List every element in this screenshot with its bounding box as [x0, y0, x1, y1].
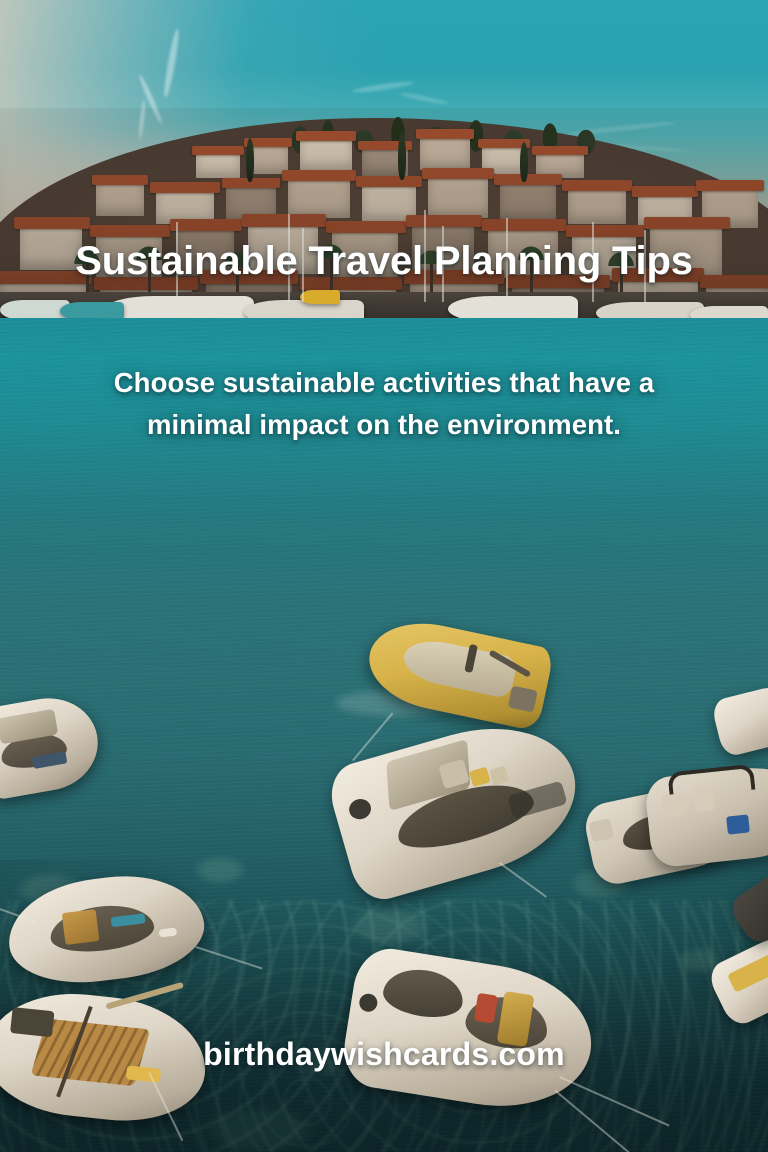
page-title: Sustainable Travel Planning Tips — [0, 238, 768, 285]
page-subtitle: Choose sustainable activities that have … — [0, 362, 768, 446]
yellow-quay-object — [300, 290, 340, 304]
motorboat-right-b — [644, 761, 768, 868]
blue-cooler — [726, 814, 750, 834]
site-watermark: birthdaywishcards.com — [0, 1036, 768, 1073]
poster-canvas: Sustainable Travel Planning Tips Choose … — [0, 0, 768, 1152]
wooden-crate — [62, 909, 100, 945]
background-photograph — [0, 0, 768, 1152]
